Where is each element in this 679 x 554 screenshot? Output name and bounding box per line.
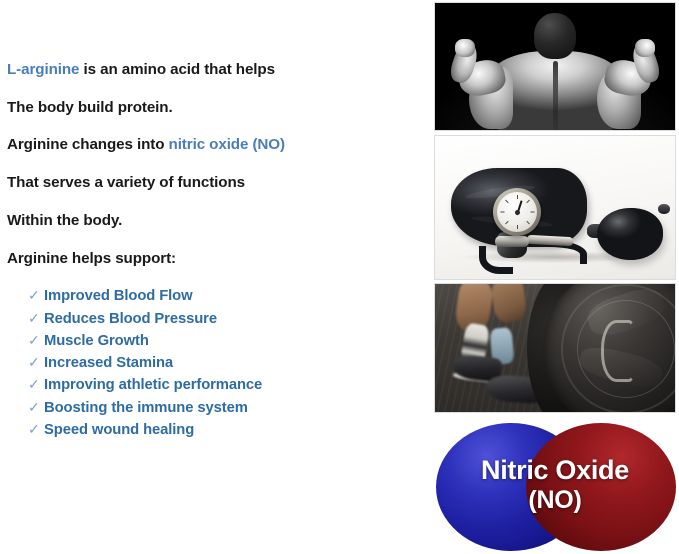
list-item-label: Muscle Growth: [44, 334, 149, 349]
list-item: ✓ Boosting the immune system: [28, 400, 420, 416]
leg-upper-right: [491, 283, 527, 324]
weight-plate-front: [543, 283, 676, 413]
spine-shadow: [553, 61, 558, 131]
fist-shape: [635, 39, 655, 57]
gauge-dial-face: [497, 192, 537, 232]
pressure-gauge: [493, 188, 541, 236]
paragraph-line-3: Arginine changes into nitric oxide (NO): [7, 137, 420, 152]
list-item: ✓ Improving athletic performance: [28, 377, 420, 393]
checkmark-icon: ✓: [28, 355, 44, 369]
list-item-label: Boosting the immune system: [44, 401, 248, 416]
paragraph-line-1: L-arginine is an amino acid that helps: [7, 62, 420, 77]
list-item-label: Speed wound healing: [44, 423, 194, 438]
no-logo-label: Nitric Oxide (NO): [434, 417, 676, 552]
checkmark-icon: ✓: [28, 377, 44, 391]
list-item: ✓ Muscle Growth: [28, 333, 420, 349]
barbell-clip: [601, 320, 635, 382]
bulb-release-valve: [658, 204, 670, 214]
text-content-column: L-arginine is an amino acid that helps T…: [0, 0, 420, 554]
photo-nitric-oxide-logo: Nitric Oxide (NO): [434, 417, 676, 552]
gauge-tick: [526, 200, 530, 204]
valve-chrome-band: [495, 236, 529, 247]
paragraph-line-1-rest: is an amino acid that helps: [79, 61, 275, 78]
benefits-list: ✓ Improved Blood Flow ✓ Reduces Blood Pr…: [7, 288, 420, 438]
image-column: Nitric Oxide (NO): [434, 2, 676, 552]
fist-shape: [455, 39, 475, 57]
checkmark-icon: ✓: [28, 400, 44, 414]
list-item: ✓ Increased Stamina: [28, 355, 420, 371]
gauge-tick: [505, 221, 509, 225]
checkmark-icon: ✓: [28, 288, 44, 302]
list-item-label: Improved Blood Flow: [44, 289, 193, 304]
paragraph-line-6: Arginine helps support:: [7, 251, 420, 266]
term-nitric-oxide: nitric oxide (NO): [169, 136, 285, 153]
checkmark-icon: ✓: [28, 422, 44, 436]
list-item-label: Reduces Blood Pressure: [44, 312, 217, 327]
photo-bodybuilder-back: [434, 2, 676, 131]
list-item-label: Increased Stamina: [44, 356, 173, 371]
term-l-arginine: L-arginine: [7, 61, 79, 78]
paragraph-line-4: That serves a variety of functions: [7, 175, 420, 190]
checkmark-icon: ✓: [28, 333, 44, 347]
gauge-hub: [515, 210, 520, 215]
gauge-tick: [530, 212, 534, 213]
paragraph-line-5: Within the body.: [7, 213, 420, 228]
list-item: ✓ Reduces Blood Pressure: [28, 311, 420, 327]
gauge-tick: [517, 225, 518, 229]
list-item: ✓ Improved Blood Flow: [28, 288, 420, 304]
checkmark-icon: ✓: [28, 311, 44, 325]
gauge-tick: [505, 200, 509, 204]
no-logo-line-1: Nitric Oxide: [481, 456, 629, 484]
paragraph-line-3-prefix: Arginine changes into: [7, 136, 169, 153]
inflation-bulb: [597, 208, 663, 260]
head-shape: [534, 13, 576, 59]
gauge-tick: [500, 212, 504, 213]
list-item-label: Improving athletic performance: [44, 378, 262, 393]
photo-blood-pressure-cuff: [434, 135, 676, 280]
paragraph-line-2: The body build protein.: [7, 100, 420, 115]
list-item: ✓ Speed wound healing: [28, 422, 420, 438]
no-logo-line-2: (NO): [528, 487, 581, 513]
infographic-page: L-arginine is an amino acid that helps T…: [0, 0, 679, 554]
arm-left: [453, 43, 503, 107]
arm-right: [607, 43, 657, 107]
photo-barbell-weights: [434, 283, 676, 413]
gauge-tick: [526, 221, 530, 225]
gauge-tick: [517, 195, 518, 199]
